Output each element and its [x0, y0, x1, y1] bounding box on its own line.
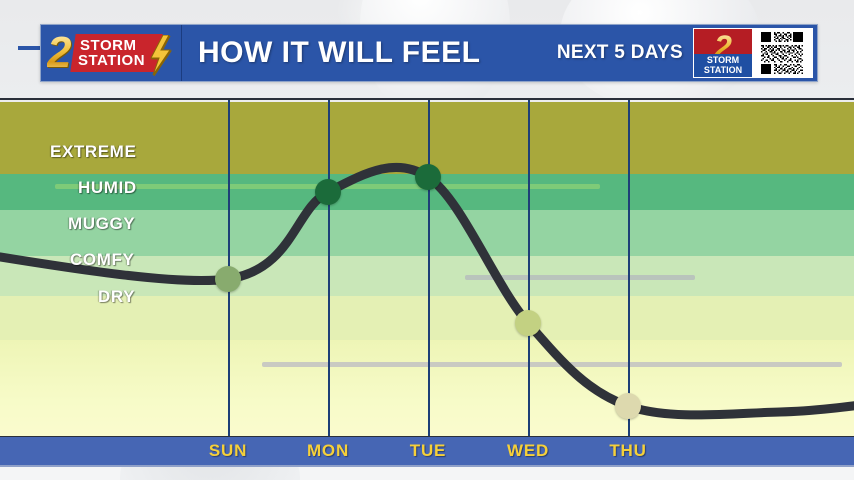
station-badge-caption: STORM STATION	[694, 54, 752, 77]
title-container: HOW IT WILL FEEL	[182, 25, 557, 81]
station-logo-line1: STORM	[81, 38, 148, 53]
station-badge-qr: 2 STORM STATION	[693, 28, 813, 78]
station-badge: 2 STORM STATION	[694, 29, 752, 77]
comfort-chart: EXTREMEHUMIDMUGGYCOMFYDRY	[0, 98, 854, 438]
data-point-sun[interactable]	[215, 266, 241, 292]
lightning-bolt-icon	[149, 35, 171, 75]
y-label-humid: HUMID	[78, 178, 137, 198]
day-label-thu: THU	[609, 441, 646, 461]
day-label-mon: MON	[307, 441, 349, 461]
data-point-tue[interactable]	[415, 164, 441, 190]
data-point-thu[interactable]	[615, 393, 641, 419]
station-logo-number: 2	[47, 31, 71, 75]
day-label-tue: TUE	[410, 441, 446, 461]
y-label-muggy: MUGGY	[68, 214, 135, 234]
header-bar: 2 STORM STATION HOW IT WILL FEEL NEXT 5 …	[40, 24, 818, 82]
day-label-sun: SUN	[209, 441, 247, 461]
weather-graphic: 2 STORM STATION HOW IT WILL FEEL NEXT 5 …	[0, 0, 854, 480]
header-subtitle: NEXT 5 DAYS	[557, 25, 693, 81]
data-point-wed[interactable]	[515, 310, 541, 336]
station-badge-line2: STATION	[694, 66, 752, 76]
qr-code-icon[interactable]	[755, 32, 809, 74]
y-label-dry: DRY	[98, 287, 135, 307]
day-axis-bar: SUNMONTUEWEDTHU	[0, 436, 854, 467]
station-logo-line2: STATION	[78, 53, 145, 68]
data-point-mon[interactable]	[315, 179, 341, 205]
y-label-comfy: COMFY	[70, 250, 134, 270]
page-title: HOW IT WILL FEEL	[198, 36, 480, 70]
station-logo: 2 STORM STATION	[41, 25, 182, 81]
y-label-extreme: EXTREME	[50, 142, 136, 162]
day-label-wed: WED	[507, 441, 549, 461]
